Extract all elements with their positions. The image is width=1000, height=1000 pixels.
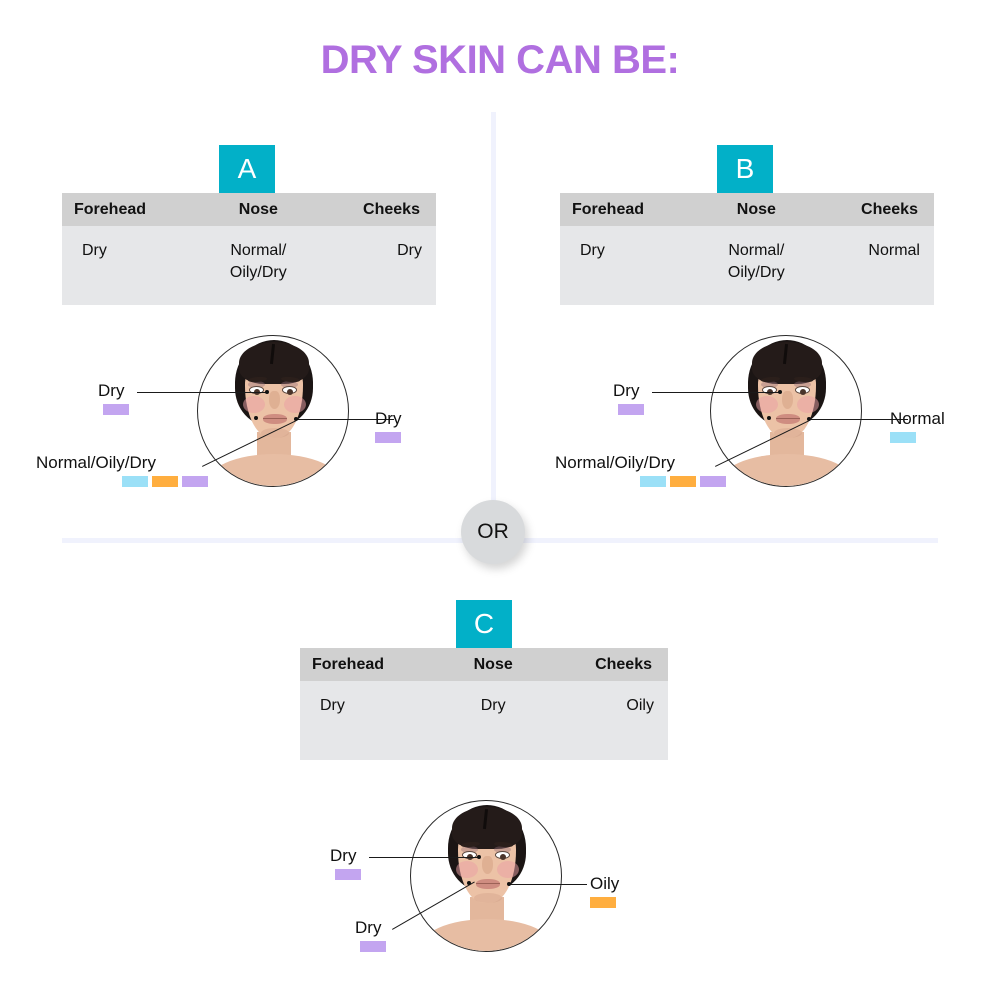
- leader-line-forehead: [369, 857, 479, 858]
- portrait-image: [198, 336, 348, 486]
- callout-swatches-forehead: [618, 404, 644, 415]
- leader-dot-forehead: [265, 390, 269, 394]
- face-circle: [197, 335, 349, 487]
- callout-swatches-cheek: [590, 897, 616, 908]
- callout-swatches-nose: [122, 476, 208, 487]
- swatch-dry: [103, 404, 129, 415]
- callout-label-forehead: Dry: [613, 381, 639, 401]
- page-title: DRY SKIN CAN BE:: [0, 38, 1000, 83]
- callout-label-nose: Normal/Oily/Dry: [36, 453, 156, 473]
- callout-swatches-forehead: [335, 869, 361, 880]
- callout-swatches-cheek: [375, 432, 401, 443]
- cell-nose-line2: Oily/Dry: [695, 262, 818, 284]
- skin-table-c: Forehead Nose Cheeks Dry Dry Oily: [300, 648, 668, 760]
- cell-nose-line2: Oily/Dry: [197, 262, 320, 284]
- column-header-nose: Nose: [197, 199, 320, 221]
- callout-swatches-forehead: [103, 404, 129, 415]
- cell-nose: Normal/ Oily/Dry: [197, 240, 320, 305]
- cell-nose: Normal/ Oily/Dry: [695, 240, 818, 305]
- swatch-dry: [335, 869, 361, 880]
- callout-swatches-nose: [640, 476, 726, 487]
- callout-label-forehead: Dry: [98, 381, 124, 401]
- callout-label-nose: Dry: [355, 918, 381, 938]
- or-badge: OR: [461, 500, 525, 564]
- table-data-row: Dry Normal/ Oily/Dry Dry: [62, 226, 436, 305]
- infographic-page: DRY SKIN CAN BE: A Forehead Nose Cheeks …: [0, 0, 1000, 1000]
- callout-swatches-cheek: [890, 432, 916, 443]
- skin-table-b: Forehead Nose Cheeks Dry Normal/ Oily/Dr…: [560, 193, 934, 305]
- face-circle: [710, 335, 862, 487]
- leader-dot-nose: [254, 416, 258, 420]
- skin-table-a: Forehead Nose Cheeks Dry Normal/ Oily/Dr…: [62, 193, 436, 305]
- table-header-row: Forehead Nose Cheeks: [300, 648, 668, 681]
- cell-nose: Dry: [432, 695, 553, 760]
- swatch-dry: [700, 476, 726, 487]
- face-circle: [410, 800, 562, 952]
- leader-line-cheek: [509, 884, 587, 885]
- face-diagram-b: Dry Normal Normal/Oily/Dry: [560, 325, 934, 505]
- leader-dot-forehead: [778, 390, 782, 394]
- cell-nose-line1: Normal/: [695, 240, 818, 262]
- swatch-oily: [670, 476, 696, 487]
- cell-cheeks: Dry: [320, 240, 436, 305]
- callout-label-forehead: Dry: [330, 846, 356, 866]
- cell-nose-line1: Dry: [432, 695, 553, 717]
- column-header-forehead: Forehead: [300, 654, 432, 676]
- callout-label-cheek: Normal: [890, 409, 945, 429]
- cell-cheeks: Oily: [554, 695, 668, 760]
- portrait-image: [411, 801, 561, 951]
- face-diagram-c: Dry Oily Dry: [300, 790, 668, 970]
- table-data-row: Dry Normal/ Oily/Dry Normal: [560, 226, 934, 305]
- table-header-row: Forehead Nose Cheeks: [560, 193, 934, 226]
- swatch-normal: [122, 476, 148, 487]
- callout-swatches-nose: [360, 941, 386, 952]
- cell-forehead: Dry: [62, 240, 197, 305]
- leader-dot-nose: [467, 881, 471, 885]
- leader-dot-nose: [767, 416, 771, 420]
- table-header-row: Forehead Nose Cheeks: [62, 193, 436, 226]
- callout-label-nose: Normal/Oily/Dry: [555, 453, 675, 473]
- swatch-dry: [182, 476, 208, 487]
- swatch-oily: [590, 897, 616, 908]
- column-header-forehead: Forehead: [560, 199, 695, 221]
- callout-label-cheek: Dry: [375, 409, 401, 429]
- swatch-dry: [375, 432, 401, 443]
- column-header-forehead: Forehead: [62, 199, 197, 221]
- swatch-normal: [890, 432, 916, 443]
- cell-nose-line1: Normal/: [197, 240, 320, 262]
- callout-label-cheek: Oily: [590, 874, 619, 894]
- portrait-image: [711, 336, 861, 486]
- cell-forehead: Dry: [560, 240, 695, 305]
- leader-line-forehead: [652, 392, 780, 393]
- swatch-dry: [360, 941, 386, 952]
- swatch-normal: [640, 476, 666, 487]
- vertical-divider: [491, 112, 496, 542]
- column-header-nose: Nose: [432, 654, 553, 676]
- panel-letter-badge-c: C: [456, 600, 512, 648]
- swatch-dry: [618, 404, 644, 415]
- panel-letter-badge-a: A: [219, 145, 275, 193]
- column-header-nose: Nose: [695, 199, 818, 221]
- cell-cheeks: Normal: [818, 240, 934, 305]
- column-header-cheeks: Cheeks: [320, 199, 436, 221]
- column-header-cheeks: Cheeks: [818, 199, 934, 221]
- table-data-row: Dry Dry Oily: [300, 681, 668, 760]
- cell-forehead: Dry: [300, 695, 432, 760]
- leader-dot-forehead: [477, 855, 481, 859]
- leader-line-forehead: [137, 392, 267, 393]
- column-header-cheeks: Cheeks: [554, 654, 668, 676]
- swatch-oily: [152, 476, 178, 487]
- face-diagram-a: Dry Dry Normal/Oily/Dry: [62, 325, 436, 505]
- panel-letter-badge-b: B: [717, 145, 773, 193]
- leader-dot-cheek: [507, 882, 511, 886]
